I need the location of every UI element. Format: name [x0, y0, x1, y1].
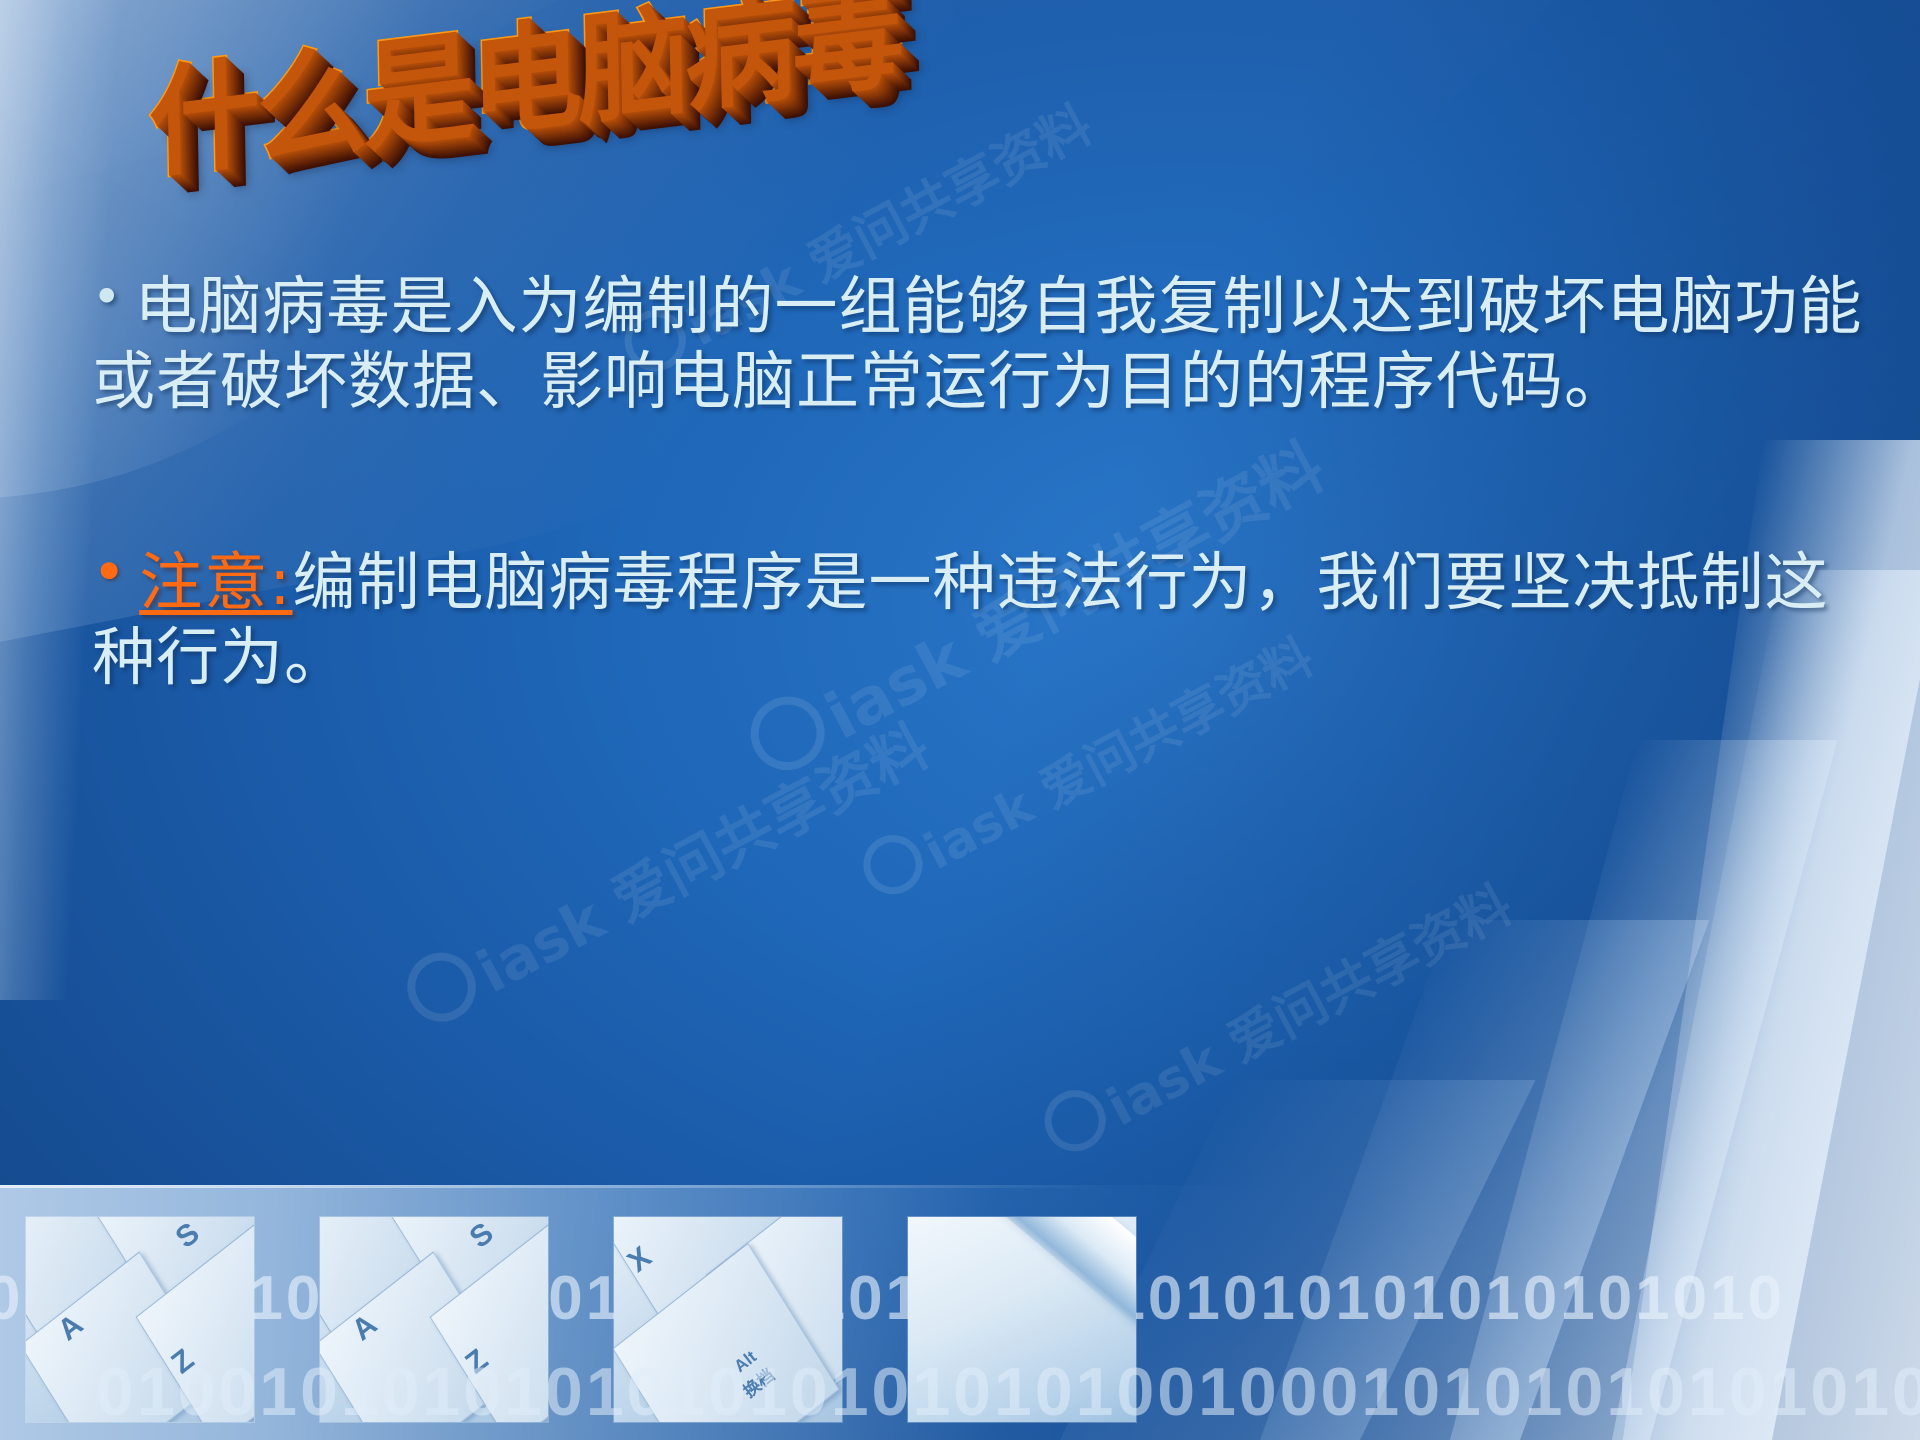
bullet-marker-icon: • — [92, 268, 123, 326]
slide-body: •电脑病毒是入为编制的一组能够自我复制以达到破坏电脑功能或者破坏数据、影响电脑正… — [92, 268, 1882, 696]
filmstrip-top-rule — [0, 1185, 1100, 1188]
bullet-item-warning: •注意:编制电脑病毒程序是一种违法行为，我们要坚决抵制这种行为。 — [92, 538, 1882, 696]
bullet-item-definition: •电脑病毒是入为编制的一组能够自我复制以达到破坏电脑功能或者破坏数据、影响电脑正… — [92, 268, 1882, 420]
warning-label: 注意: — [139, 546, 292, 619]
bullet-marker-warning-icon: • — [92, 538, 127, 606]
binary-digits-row-2: 0100101010101010101010101001000101010101… — [96, 1353, 1920, 1431]
bullet-text-warning: 编制电脑病毒程序是一种违法行为，我们要坚决抵制这种行为。 — [92, 546, 1828, 694]
presentation-slide: 什么是电脑病毒 •电脑病毒是入为编制的一组能够自我复制以达到破坏电脑功能或者破坏… — [0, 0, 1920, 1440]
slide-title: 什么是电脑病毒 — [150, 74, 870, 244]
bottom-filmstrip: 0101010100100100101010101010001010101010… — [0, 1185, 1920, 1440]
bullet-text-definition: 电脑病毒是入为编制的一组能够自我复制以达到破坏电脑功能或者破坏数据、影响电脑正常… — [92, 270, 1863, 418]
binary-digits-row-1: 0101010100100100101010101010001010101010… — [0, 1263, 1785, 1334]
